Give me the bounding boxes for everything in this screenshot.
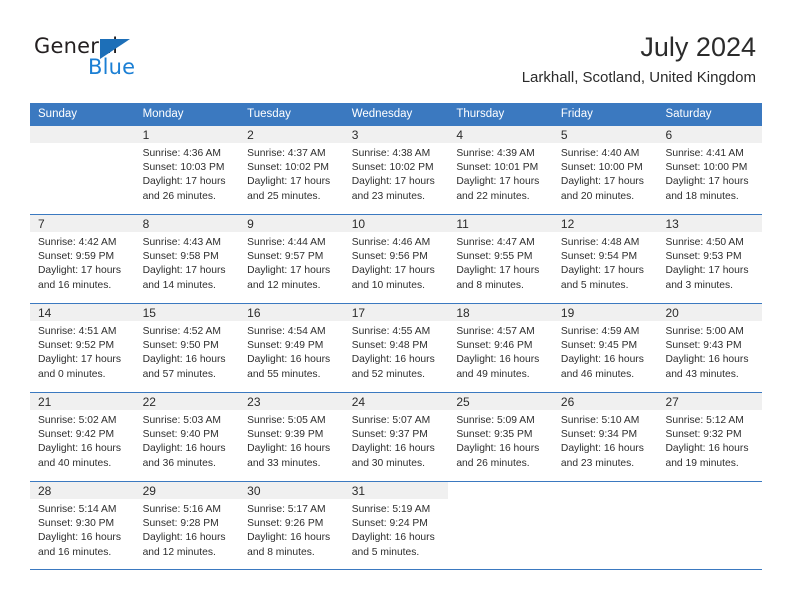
daylight-line-1: Daylight: 17 hours: [561, 264, 650, 278]
day-number-band: 25: [448, 393, 553, 410]
day-number-band: 28: [30, 482, 135, 499]
day-number: 30: [247, 484, 260, 498]
sunset-line: Sunset: 9:53 PM: [665, 250, 754, 264]
day-number-band: 4: [448, 126, 553, 143]
sunrise-line: Sunrise: 5:03 AM: [143, 414, 232, 428]
day-number-band: 7: [30, 215, 135, 232]
sunset-line: Sunset: 10:00 PM: [561, 161, 650, 175]
day-cell[interactable]: 26 Sunrise: 5:10 AM Sunset: 9:34 PM Dayl…: [553, 393, 658, 481]
day-number: 15: [143, 306, 156, 320]
day-number: 22: [143, 395, 156, 409]
sunset-line: Sunset: 9:45 PM: [561, 339, 650, 353]
weekday-header-friday: Friday: [553, 103, 658, 125]
day-number: 7: [38, 217, 45, 231]
daylight-line-2: and 18 minutes.: [665, 190, 754, 204]
day-number-band: 5: [553, 126, 658, 143]
daylight-line-2: and 16 minutes.: [38, 546, 127, 560]
day-cell[interactable]: 12 Sunrise: 4:48 AM Sunset: 9:54 PM Dayl…: [553, 215, 658, 303]
day-number-band: 14: [30, 304, 135, 321]
day-number-band: 26: [553, 393, 658, 410]
day-details: Sunrise: 4:57 AM Sunset: 9:46 PM Dayligh…: [448, 321, 553, 382]
day-details: Sunrise: 5:02 AM Sunset: 9:42 PM Dayligh…: [30, 410, 135, 471]
day-details: [448, 499, 553, 503]
sunrise-line: Sunrise: 4:47 AM: [456, 236, 545, 250]
day-details: Sunrise: 5:19 AM Sunset: 9:24 PM Dayligh…: [344, 499, 449, 560]
weekday-header-monday: Monday: [135, 103, 240, 125]
sunrise-line: Sunrise: 4:43 AM: [143, 236, 232, 250]
day-details: Sunrise: 4:52 AM Sunset: 9:50 PM Dayligh…: [135, 321, 240, 382]
day-number: 24: [352, 395, 365, 409]
weekday-header-sunday: Sunday: [30, 103, 135, 125]
daylight-line-1: Daylight: 16 hours: [665, 353, 754, 367]
day-number: 2: [247, 128, 254, 142]
day-details: Sunrise: 5:14 AM Sunset: 9:30 PM Dayligh…: [30, 499, 135, 560]
day-cell[interactable]: 1 Sunrise: 4:36 AM Sunset: 10:03 PM Dayl…: [135, 126, 240, 214]
daylight-line-1: Daylight: 17 hours: [665, 175, 754, 189]
day-number: 9: [247, 217, 254, 231]
sunset-line: Sunset: 9:49 PM: [247, 339, 336, 353]
daylight-line-1: Daylight: 16 hours: [561, 442, 650, 456]
daylight-line-1: Daylight: 16 hours: [143, 353, 232, 367]
daylight-line-1: Daylight: 17 hours: [143, 175, 232, 189]
daylight-line-1: Daylight: 17 hours: [561, 175, 650, 189]
sunrise-line: Sunrise: 4:46 AM: [352, 236, 441, 250]
daylight-line-1: Daylight: 17 hours: [38, 264, 127, 278]
daylight-line-2: and 49 minutes.: [456, 368, 545, 382]
day-details: Sunrise: 4:39 AM Sunset: 10:01 PM Daylig…: [448, 143, 553, 204]
day-number-band: [30, 126, 135, 143]
day-cell[interactable]: 27 Sunrise: 5:12 AM Sunset: 9:32 PM Dayl…: [657, 393, 762, 481]
daylight-line-2: and 12 minutes.: [247, 279, 336, 293]
day-cell[interactable]: 15 Sunrise: 4:52 AM Sunset: 9:50 PM Dayl…: [135, 304, 240, 392]
day-cell[interactable]: 10 Sunrise: 4:46 AM Sunset: 9:56 PM Dayl…: [344, 215, 449, 303]
sunrise-line: Sunrise: 4:50 AM: [665, 236, 754, 250]
day-number-band: 12: [553, 215, 658, 232]
day-cell[interactable]: 29 Sunrise: 5:16 AM Sunset: 9:28 PM Dayl…: [135, 482, 240, 569]
daylight-line-2: and 5 minutes.: [561, 279, 650, 293]
daylight-line-1: Daylight: 17 hours: [456, 175, 545, 189]
sunset-line: Sunset: 10:02 PM: [352, 161, 441, 175]
day-number-band: 20: [657, 304, 762, 321]
day-details: Sunrise: 4:37 AM Sunset: 10:02 PM Daylig…: [239, 143, 344, 204]
sunset-line: Sunset: 9:39 PM: [247, 428, 336, 442]
daylight-line-1: Daylight: 16 hours: [665, 442, 754, 456]
day-cell[interactable]: 23 Sunrise: 5:05 AM Sunset: 9:39 PM Dayl…: [239, 393, 344, 481]
day-number-band: 8: [135, 215, 240, 232]
day-number: 21: [38, 395, 51, 409]
daylight-line-1: Daylight: 16 hours: [143, 442, 232, 456]
weekday-header-saturday: Saturday: [657, 103, 762, 125]
day-number: 1: [143, 128, 150, 142]
sunrise-line: Sunrise: 4:36 AM: [143, 147, 232, 161]
day-details: Sunrise: 4:44 AM Sunset: 9:57 PM Dayligh…: [239, 232, 344, 293]
daylight-line-1: Daylight: 16 hours: [352, 353, 441, 367]
day-details: Sunrise: 5:16 AM Sunset: 9:28 PM Dayligh…: [135, 499, 240, 560]
daylight-line-2: and 22 minutes.: [456, 190, 545, 204]
day-cell[interactable]: 13 Sunrise: 4:50 AM Sunset: 9:53 PM Dayl…: [657, 215, 762, 303]
day-details: Sunrise: 4:38 AM Sunset: 10:02 PM Daylig…: [344, 143, 449, 204]
day-number-band: 6: [657, 126, 762, 143]
daylight-line-1: Daylight: 16 hours: [456, 353, 545, 367]
day-number: 19: [561, 306, 574, 320]
day-cell[interactable]: 9 Sunrise: 4:44 AM Sunset: 9:57 PM Dayli…: [239, 215, 344, 303]
day-number-band: 22: [135, 393, 240, 410]
sunset-line: Sunset: 9:43 PM: [665, 339, 754, 353]
daylight-line-1: Daylight: 17 hours: [247, 264, 336, 278]
daylight-line-2: and 8 minutes.: [247, 546, 336, 560]
weekday-header-tuesday: Tuesday: [239, 103, 344, 125]
daylight-line-1: Daylight: 17 hours: [352, 264, 441, 278]
day-details: Sunrise: 4:40 AM Sunset: 10:00 PM Daylig…: [553, 143, 658, 204]
daylight-line-1: Daylight: 16 hours: [352, 442, 441, 456]
day-cell[interactable]: 22 Sunrise: 5:03 AM Sunset: 9:40 PM Dayl…: [135, 393, 240, 481]
daylight-line-1: Daylight: 16 hours: [247, 442, 336, 456]
sunrise-line: Sunrise: 5:00 AM: [665, 325, 754, 339]
day-number: 4: [456, 128, 463, 142]
day-cell[interactable]: 21 Sunrise: 5:02 AM Sunset: 9:42 PM Dayl…: [30, 393, 135, 481]
sunrise-line: Sunrise: 4:42 AM: [38, 236, 127, 250]
daylight-line-2: and 30 minutes.: [352, 457, 441, 471]
day-number-band: [448, 482, 553, 499]
sunset-line: Sunset: 9:24 PM: [352, 517, 441, 531]
day-number-band: 23: [239, 393, 344, 410]
day-number: 11: [456, 217, 468, 231]
sunset-line: Sunset: 10:00 PM: [665, 161, 754, 175]
sunrise-line: Sunrise: 4:40 AM: [561, 147, 650, 161]
sunrise-line: Sunrise: 5:02 AM: [38, 414, 127, 428]
sunset-line: Sunset: 9:50 PM: [143, 339, 232, 353]
sunrise-line: Sunrise: 4:37 AM: [247, 147, 336, 161]
day-cell[interactable]: 8 Sunrise: 4:43 AM Sunset: 9:58 PM Dayli…: [135, 215, 240, 303]
week-row: 28 Sunrise: 5:14 AM Sunset: 9:30 PM Dayl…: [30, 481, 762, 570]
weekday-header-row: Sunday Monday Tuesday Wednesday Thursday…: [30, 103, 762, 125]
day-number-band: 13: [657, 215, 762, 232]
day-cell[interactable]: 11 Sunrise: 4:47 AM Sunset: 9:55 PM Dayl…: [448, 215, 553, 303]
calendar-page: General Blue July 2024 Larkhall, Scotlan…: [0, 0, 792, 612]
daylight-line-2: and 0 minutes.: [38, 368, 127, 382]
day-cell[interactable]: 20 Sunrise: 5:00 AM Sunset: 9:43 PM Dayl…: [657, 304, 762, 392]
day-number-band: 29: [135, 482, 240, 499]
day-details: Sunrise: 5:10 AM Sunset: 9:34 PM Dayligh…: [553, 410, 658, 471]
sunset-line: Sunset: 9:28 PM: [143, 517, 232, 531]
daylight-line-1: Daylight: 16 hours: [352, 531, 441, 545]
page-subtitle: Larkhall, Scotland, United Kingdom: [522, 68, 756, 87]
day-number-band: 27: [657, 393, 762, 410]
sunset-line: Sunset: 9:57 PM: [247, 250, 336, 264]
day-details: [657, 499, 762, 503]
daylight-line-1: Daylight: 17 hours: [665, 264, 754, 278]
day-details: Sunrise: 4:59 AM Sunset: 9:45 PM Dayligh…: [553, 321, 658, 382]
sunset-line: Sunset: 9:52 PM: [38, 339, 127, 353]
day-details: [553, 499, 658, 503]
sunset-line: Sunset: 9:32 PM: [665, 428, 754, 442]
daylight-line-2: and 3 minutes.: [665, 279, 754, 293]
day-number: 23: [247, 395, 260, 409]
day-cell[interactable]: 24 Sunrise: 5:07 AM Sunset: 9:37 PM Dayl…: [344, 393, 449, 481]
day-number-band: 19: [553, 304, 658, 321]
daylight-line-2: and 12 minutes.: [143, 546, 232, 560]
sunrise-line: Sunrise: 4:54 AM: [247, 325, 336, 339]
sunset-line: Sunset: 9:26 PM: [247, 517, 336, 531]
daylight-line-1: Daylight: 17 hours: [143, 264, 232, 278]
day-number: 18: [456, 306, 469, 320]
sunset-line: Sunset: 10:01 PM: [456, 161, 545, 175]
daylight-line-2: and 46 minutes.: [561, 368, 650, 382]
daylight-line-2: and 20 minutes.: [561, 190, 650, 204]
sunset-line: Sunset: 9:48 PM: [352, 339, 441, 353]
logo-text-blue: Blue: [88, 57, 135, 78]
sunset-line: Sunset: 9:30 PM: [38, 517, 127, 531]
sunrise-line: Sunrise: 4:39 AM: [456, 147, 545, 161]
day-number-band: 9: [239, 215, 344, 232]
sunrise-line: Sunrise: 5:10 AM: [561, 414, 650, 428]
day-number: 20: [665, 306, 678, 320]
day-details: Sunrise: 4:43 AM Sunset: 9:58 PM Dayligh…: [135, 232, 240, 293]
day-number: 6: [665, 128, 672, 142]
title-block: July 2024 Larkhall, Scotland, United Kin…: [522, 30, 756, 87]
daylight-line-1: Daylight: 17 hours: [38, 353, 127, 367]
day-number-band: [657, 482, 762, 499]
sunset-line: Sunset: 9:42 PM: [38, 428, 127, 442]
daylight-line-1: Daylight: 16 hours: [247, 531, 336, 545]
sunrise-line: Sunrise: 5:09 AM: [456, 414, 545, 428]
day-details: Sunrise: 5:00 AM Sunset: 9:43 PM Dayligh…: [657, 321, 762, 382]
daylight-line-2: and 25 minutes.: [247, 190, 336, 204]
sunrise-line: Sunrise: 4:52 AM: [143, 325, 232, 339]
day-details: Sunrise: 5:07 AM Sunset: 9:37 PM Dayligh…: [344, 410, 449, 471]
day-details: Sunrise: 5:05 AM Sunset: 9:39 PM Dayligh…: [239, 410, 344, 471]
page-title: July 2024: [522, 30, 756, 64]
day-cell[interactable]: 5 Sunrise: 4:40 AM Sunset: 10:00 PM Dayl…: [553, 126, 658, 214]
day-details: Sunrise: 4:42 AM Sunset: 9:59 PM Dayligh…: [30, 232, 135, 293]
daylight-line-2: and 8 minutes.: [456, 279, 545, 293]
calendar-grid: Sunday Monday Tuesday Wednesday Thursday…: [30, 103, 762, 570]
day-number: 3: [352, 128, 359, 142]
day-cell[interactable]: [553, 482, 658, 569]
daylight-line-2: and 52 minutes.: [352, 368, 441, 382]
day-details: Sunrise: 5:03 AM Sunset: 9:40 PM Dayligh…: [135, 410, 240, 471]
day-number: 25: [456, 395, 469, 409]
sunrise-line: Sunrise: 5:07 AM: [352, 414, 441, 428]
day-cell[interactable]: 30 Sunrise: 5:17 AM Sunset: 9:26 PM Dayl…: [239, 482, 344, 569]
sunrise-line: Sunrise: 5:12 AM: [665, 414, 754, 428]
day-number-band: 17: [344, 304, 449, 321]
day-number-band: 18: [448, 304, 553, 321]
sunset-line: Sunset: 9:59 PM: [38, 250, 127, 264]
sunrise-line: Sunrise: 4:38 AM: [352, 147, 441, 161]
day-number: 17: [352, 306, 365, 320]
day-number-band: 3: [344, 126, 449, 143]
weekday-header-wednesday: Wednesday: [344, 103, 449, 125]
sunset-line: Sunset: 9:37 PM: [352, 428, 441, 442]
day-number-band: 1: [135, 126, 240, 143]
day-details: Sunrise: 5:09 AM Sunset: 9:35 PM Dayligh…: [448, 410, 553, 471]
day-details: Sunrise: 5:17 AM Sunset: 9:26 PM Dayligh…: [239, 499, 344, 560]
sunrise-line: Sunrise: 4:57 AM: [456, 325, 545, 339]
sunset-line: Sunset: 9:40 PM: [143, 428, 232, 442]
day-number: 14: [38, 306, 51, 320]
daylight-line-1: Daylight: 16 hours: [561, 353, 650, 367]
day-cell[interactable]: 6 Sunrise: 4:41 AM Sunset: 10:00 PM Dayl…: [657, 126, 762, 214]
daylight-line-2: and 36 minutes.: [143, 457, 232, 471]
day-details: Sunrise: 4:50 AM Sunset: 9:53 PM Dayligh…: [657, 232, 762, 293]
day-details: Sunrise: 5:12 AM Sunset: 9:32 PM Dayligh…: [657, 410, 762, 471]
day-number: 29: [143, 484, 156, 498]
week-row: 1 Sunrise: 4:36 AM Sunset: 10:03 PM Dayl…: [30, 125, 762, 214]
daylight-line-2: and 55 minutes.: [247, 368, 336, 382]
day-cell[interactable]: [448, 482, 553, 569]
sunset-line: Sunset: 9:55 PM: [456, 250, 545, 264]
sunset-line: Sunset: 9:46 PM: [456, 339, 545, 353]
day-details: Sunrise: 4:51 AM Sunset: 9:52 PM Dayligh…: [30, 321, 135, 382]
sunrise-line: Sunrise: 5:17 AM: [247, 503, 336, 517]
sunset-line: Sunset: 9:34 PM: [561, 428, 650, 442]
day-cell[interactable]: 18 Sunrise: 4:57 AM Sunset: 9:46 PM Dayl…: [448, 304, 553, 392]
sunset-line: Sunset: 10:02 PM: [247, 161, 336, 175]
day-cell[interactable]: [30, 126, 135, 214]
day-details: Sunrise: 4:47 AM Sunset: 9:55 PM Dayligh…: [448, 232, 553, 293]
sunset-line: Sunset: 10:03 PM: [143, 161, 232, 175]
sunrise-line: Sunrise: 5:14 AM: [38, 503, 127, 517]
daylight-line-2: and 33 minutes.: [247, 457, 336, 471]
day-number: 5: [561, 128, 568, 142]
day-cell[interactable]: 16 Sunrise: 4:54 AM Sunset: 9:49 PM Dayl…: [239, 304, 344, 392]
day-number: 28: [38, 484, 51, 498]
sunrise-line: Sunrise: 5:16 AM: [143, 503, 232, 517]
sunrise-line: Sunrise: 5:19 AM: [352, 503, 441, 517]
daylight-line-2: and 26 minutes.: [456, 457, 545, 471]
day-cell[interactable]: 17 Sunrise: 4:55 AM Sunset: 9:48 PM Dayl…: [344, 304, 449, 392]
day-number: 13: [665, 217, 678, 231]
sunrise-line: Sunrise: 4:59 AM: [561, 325, 650, 339]
daylight-line-2: and 23 minutes.: [352, 190, 441, 204]
day-cell[interactable]: 7 Sunrise: 4:42 AM Sunset: 9:59 PM Dayli…: [30, 215, 135, 303]
daylight-line-2: and 40 minutes.: [38, 457, 127, 471]
day-number: 10: [352, 217, 365, 231]
day-number: 16: [247, 306, 260, 320]
sunrise-line: Sunrise: 4:51 AM: [38, 325, 127, 339]
day-number-band: 11: [448, 215, 553, 232]
day-details: [30, 143, 135, 147]
daylight-line-2: and 19 minutes.: [665, 457, 754, 471]
daylight-line-1: Daylight: 16 hours: [456, 442, 545, 456]
daylight-line-2: and 43 minutes.: [665, 368, 754, 382]
day-number-band: 31: [344, 482, 449, 499]
day-details: Sunrise: 4:41 AM Sunset: 10:00 PM Daylig…: [657, 143, 762, 204]
sunrise-line: Sunrise: 4:41 AM: [665, 147, 754, 161]
weekday-header-thursday: Thursday: [448, 103, 553, 125]
daylight-line-1: Daylight: 16 hours: [143, 531, 232, 545]
week-row: 21 Sunrise: 5:02 AM Sunset: 9:42 PM Dayl…: [30, 392, 762, 481]
day-details: Sunrise: 4:46 AM Sunset: 9:56 PM Dayligh…: [344, 232, 449, 293]
day-number-band: 21: [30, 393, 135, 410]
day-cell[interactable]: 25 Sunrise: 5:09 AM Sunset: 9:35 PM Dayl…: [448, 393, 553, 481]
sunset-line: Sunset: 9:54 PM: [561, 250, 650, 264]
day-number-band: [553, 482, 658, 499]
daylight-line-1: Daylight: 17 hours: [352, 175, 441, 189]
day-details: Sunrise: 4:54 AM Sunset: 9:49 PM Dayligh…: [239, 321, 344, 382]
sunset-line: Sunset: 9:56 PM: [352, 250, 441, 264]
daylight-line-2: and 10 minutes.: [352, 279, 441, 293]
day-number-band: 24: [344, 393, 449, 410]
day-cell[interactable]: 2 Sunrise: 4:37 AM Sunset: 10:02 PM Dayl…: [239, 126, 344, 214]
sunrise-line: Sunrise: 4:48 AM: [561, 236, 650, 250]
daylight-line-2: and 16 minutes.: [38, 279, 127, 293]
day-number-band: 15: [135, 304, 240, 321]
day-details: Sunrise: 4:55 AM Sunset: 9:48 PM Dayligh…: [344, 321, 449, 382]
page-header: General Blue July 2024 Larkhall, Scotlan…: [0, 0, 792, 103]
sunrise-line: Sunrise: 4:44 AM: [247, 236, 336, 250]
daylight-line-1: Daylight: 17 hours: [247, 175, 336, 189]
day-details: Sunrise: 4:36 AM Sunset: 10:03 PM Daylig…: [135, 143, 240, 204]
sunrise-line: Sunrise: 5:05 AM: [247, 414, 336, 428]
daylight-line-1: Daylight: 16 hours: [38, 442, 127, 456]
daylight-line-2: and 26 minutes.: [143, 190, 232, 204]
daylight-line-1: Daylight: 17 hours: [456, 264, 545, 278]
daylight-line-2: and 14 minutes.: [143, 279, 232, 293]
day-number: 31: [352, 484, 365, 498]
day-cell[interactable]: 19 Sunrise: 4:59 AM Sunset: 9:45 PM Dayl…: [553, 304, 658, 392]
day-number-band: 2: [239, 126, 344, 143]
day-number-band: 16: [239, 304, 344, 321]
day-number: 27: [665, 395, 678, 409]
sunset-line: Sunset: 9:58 PM: [143, 250, 232, 264]
daylight-line-1: Daylight: 16 hours: [247, 353, 336, 367]
daylight-line-2: and 57 minutes.: [143, 368, 232, 382]
day-details: Sunrise: 4:48 AM Sunset: 9:54 PM Dayligh…: [553, 232, 658, 293]
daylight-line-2: and 23 minutes.: [561, 457, 650, 471]
week-row: 7 Sunrise: 4:42 AM Sunset: 9:59 PM Dayli…: [30, 214, 762, 303]
day-number: 12: [561, 217, 574, 231]
daylight-line-2: and 5 minutes.: [352, 546, 441, 560]
sunset-line: Sunset: 9:35 PM: [456, 428, 545, 442]
sunrise-line: Sunrise: 4:55 AM: [352, 325, 441, 339]
day-cell[interactable]: 14 Sunrise: 4:51 AM Sunset: 9:52 PM Dayl…: [30, 304, 135, 392]
day-number: 8: [143, 217, 150, 231]
day-cell[interactable]: 4 Sunrise: 4:39 AM Sunset: 10:01 PM Dayl…: [448, 126, 553, 214]
day-number-band: 30: [239, 482, 344, 499]
day-number: 26: [561, 395, 574, 409]
general-blue-logo[interactable]: General Blue: [34, 36, 184, 84]
week-row: 14 Sunrise: 4:51 AM Sunset: 9:52 PM Dayl…: [30, 303, 762, 392]
day-cell[interactable]: 31 Sunrise: 5:19 AM Sunset: 9:24 PM Dayl…: [344, 482, 449, 569]
day-number-band: 10: [344, 215, 449, 232]
day-cell[interactable]: 3 Sunrise: 4:38 AM Sunset: 10:02 PM Dayl…: [344, 126, 449, 214]
day-cell[interactable]: 28 Sunrise: 5:14 AM Sunset: 9:30 PM Dayl…: [30, 482, 135, 569]
daylight-line-1: Daylight: 16 hours: [38, 531, 127, 545]
day-cell[interactable]: [657, 482, 762, 569]
